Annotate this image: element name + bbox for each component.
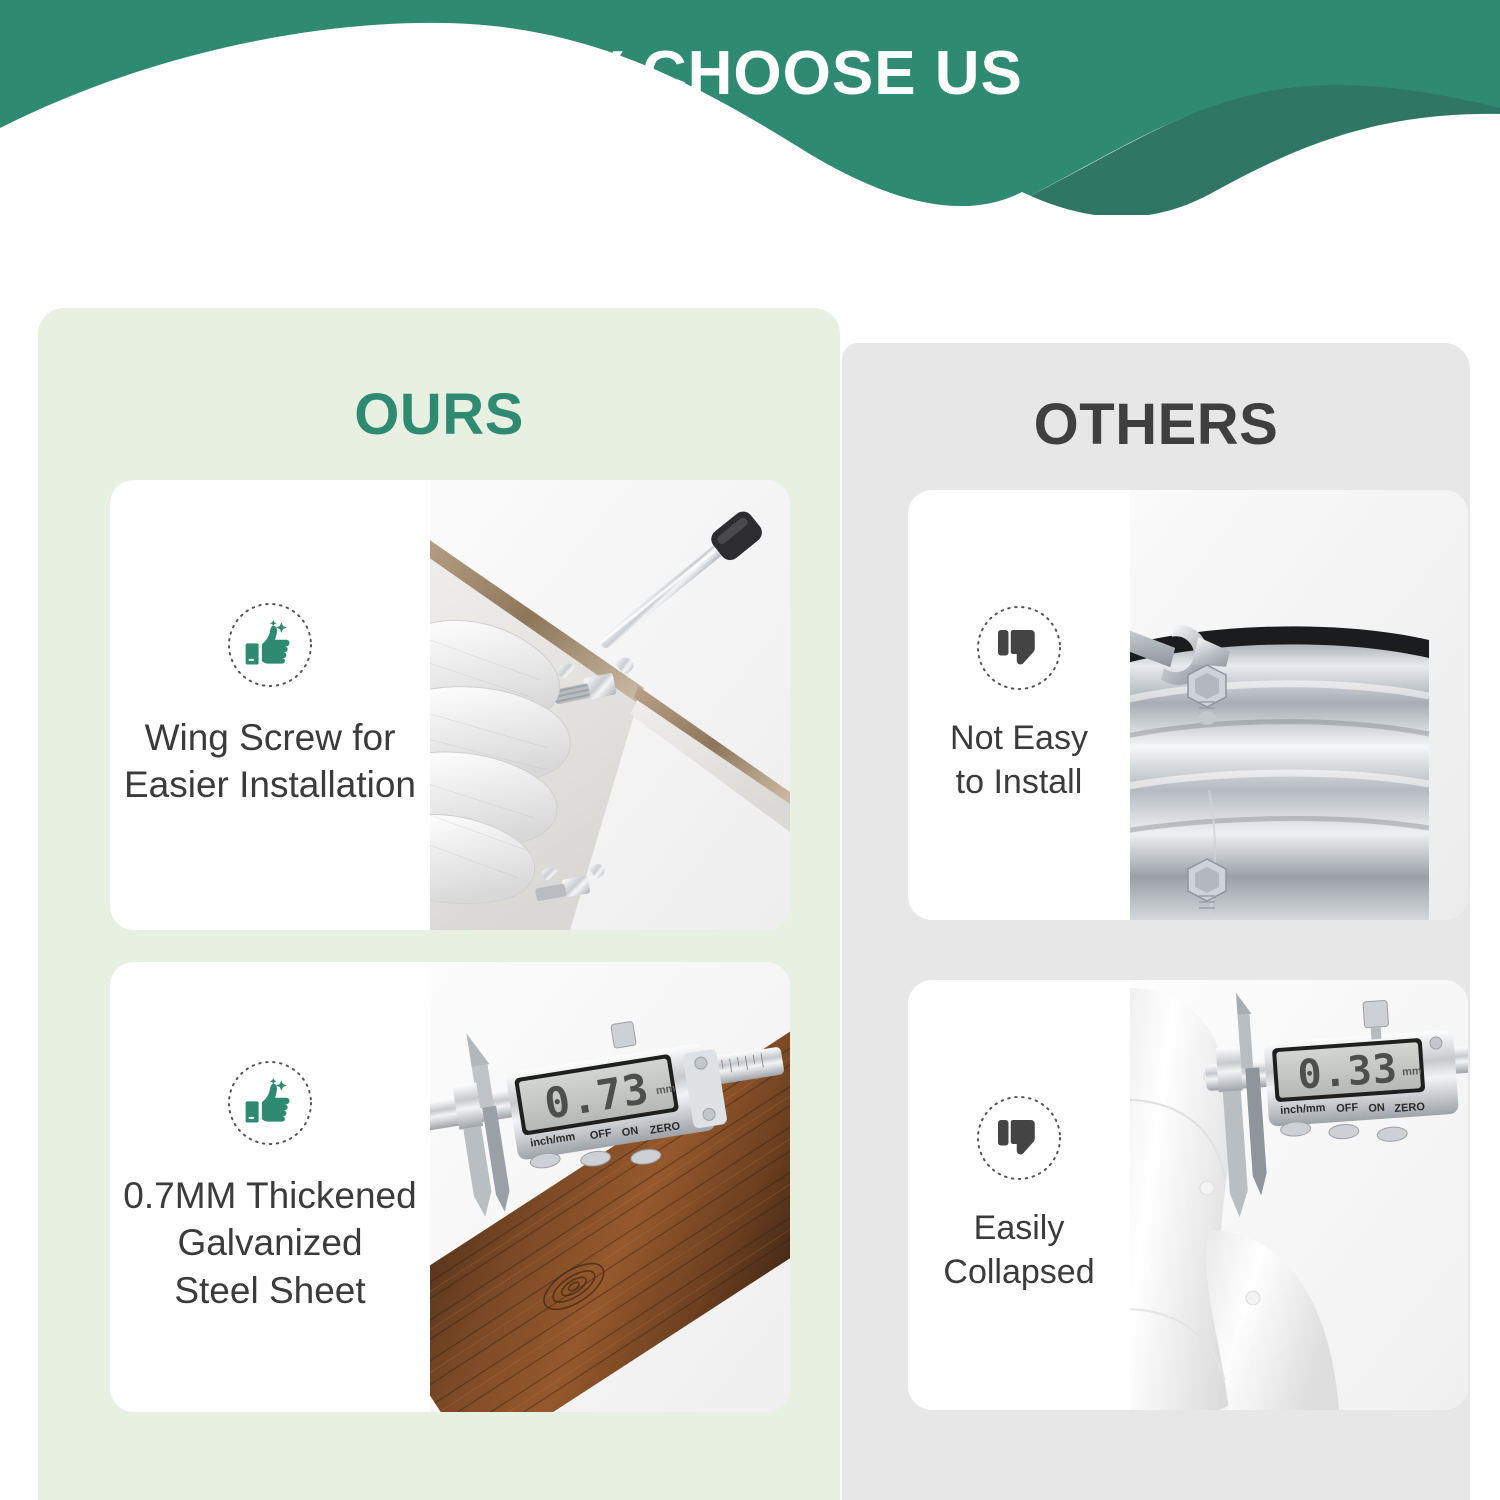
card-others-easily-collapsed[interactable]: Easily Collapsed [908,980,1468,1410]
card-image-caliper-thin-sheet: 0.33 mm inch/mm OFF ON ZERO [1130,980,1468,1410]
card-label: Easily Collapsed [943,1207,1094,1294]
caliper-reading-unit: mm [1402,1065,1423,1078]
page-title: WHY CHOOSE US [0,38,1500,109]
card-text-block: 0.7MM Thickened Galvanized Steel Sheet [110,962,430,1412]
caliper-label-zero: ZERO [1394,1101,1426,1115]
card-text-block: Not Easy to Install [908,490,1130,920]
card-text-block: Easily Collapsed [908,980,1130,1410]
card-image-wing-screw [430,480,790,930]
heading-ours: OURS [38,381,840,448]
card-others-hard-install[interactable]: Not Easy to Install [908,490,1468,920]
page-header: WHY CHOOSE US [0,0,1500,215]
dotted-circle-icon [976,605,1062,691]
dotted-circle-icon [227,602,313,688]
card-label: Wing Screw for Easier Installation [124,714,416,809]
caliper-reading-value: 0.33 [1296,1046,1399,1099]
card-label: 0.7MM Thickened Galvanized Steel Sheet [123,1172,416,1314]
why-choose-us-page: WHY CHOOSE US OURS Wing Screw for Easier… [0,0,1500,1500]
heading-others: OTHERS [842,391,1470,458]
gloved-hand-wing-screw-illustration [430,480,790,930]
caliper-measuring-thin-sheet-illustration: 0.33 mm inch/mm OFF ON ZERO [1130,980,1468,1410]
caliper-measuring-wood-illustration: 0.73 mm inch/mm OFF ON ZERO [430,962,790,1412]
card-image-caliper-wood: 0.73 mm inch/mm OFF ON ZERO [430,962,790,1412]
card-ours-wing-screw[interactable]: Wing Screw for Easier Installation [110,480,790,930]
dotted-circle-icon [227,1060,313,1146]
dotted-circle-icon [976,1095,1062,1181]
caliper-label-on: ON [621,1125,639,1139]
card-image-wrench-nut [1130,490,1468,920]
card-label: Not Easy to Install [950,717,1088,804]
thumbs-up-badge [227,1060,313,1146]
card-ours-steel-thickness[interactable]: 0.7MM Thickened Galvanized Steel Sheet [110,962,790,1412]
thumbs-down-badge [976,605,1062,691]
card-text-block: Wing Screw for Easier Installation [110,480,430,930]
caliper-label-on: ON [1368,1102,1385,1115]
caliper-label-off: OFF [1336,1102,1359,1116]
thumbs-up-badge [227,602,313,688]
thumbs-down-badge [976,1095,1062,1181]
wrench-hex-nut-tube-illustration [1130,490,1468,920]
